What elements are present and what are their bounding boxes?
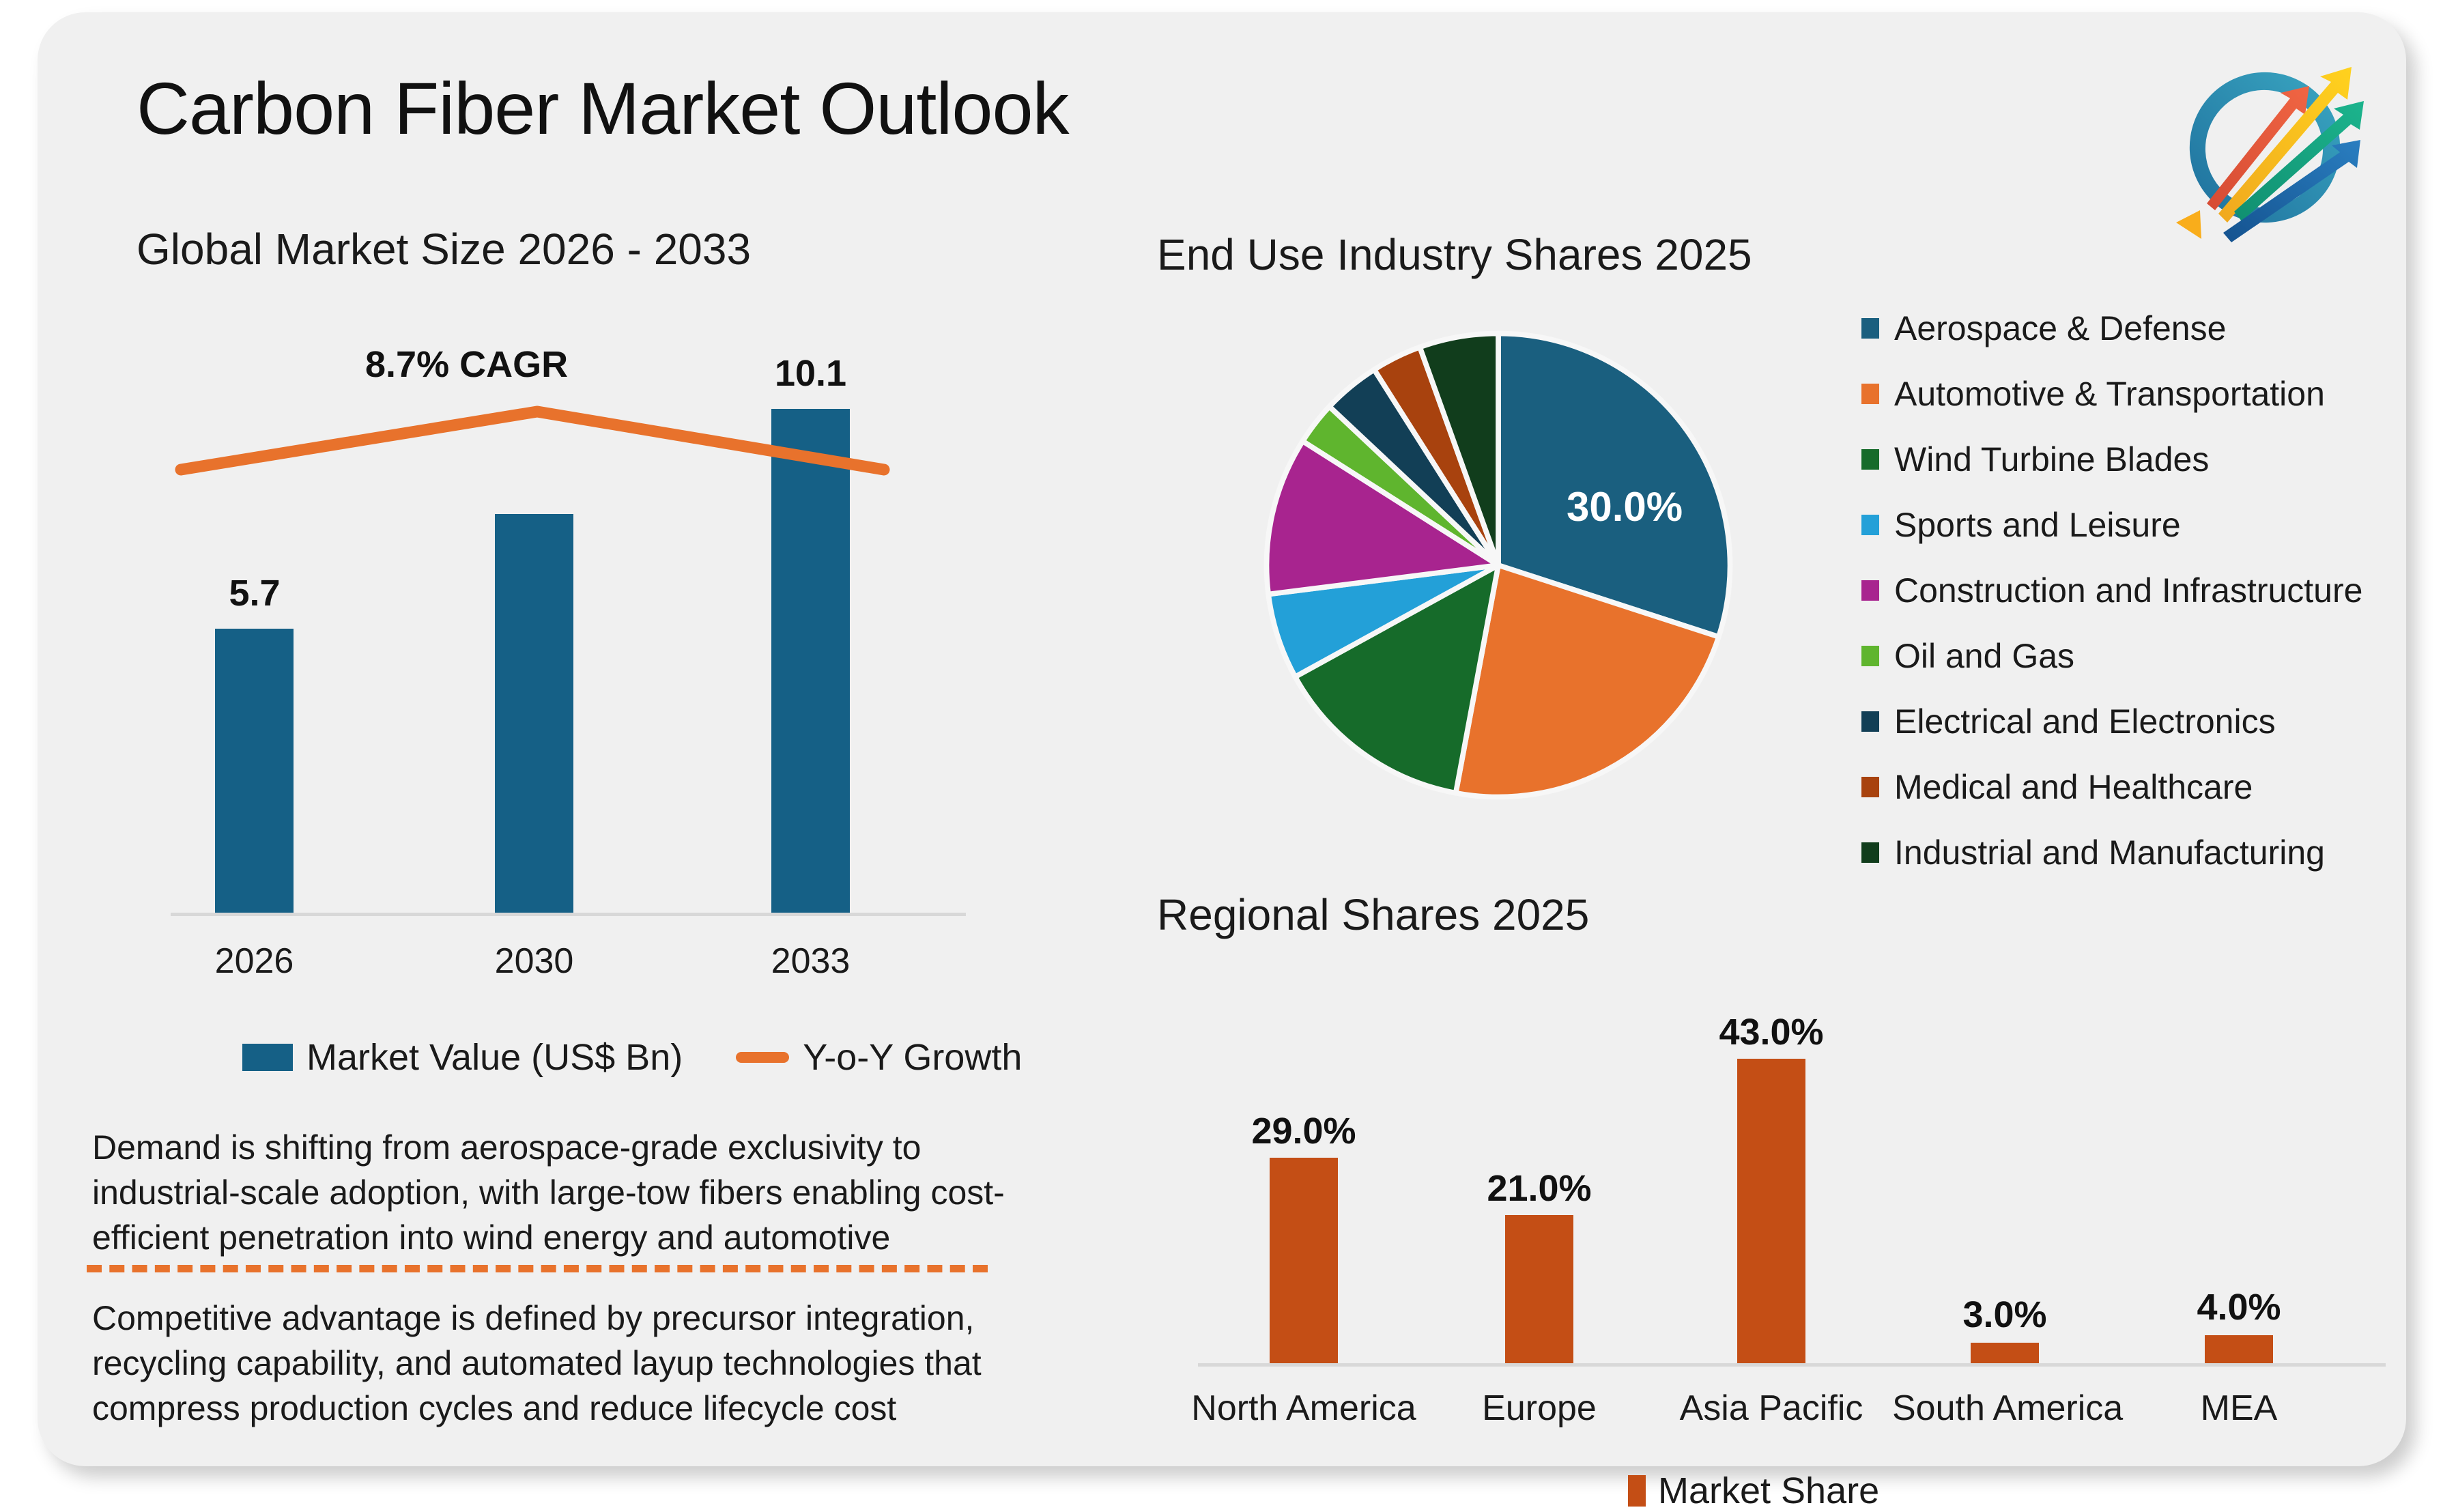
xtick-2033: 2033 — [737, 941, 884, 982]
market-value-swatch-icon — [242, 1044, 293, 1071]
rbar-europe — [1505, 1215, 1573, 1364]
legend-swatch-icon — [1861, 318, 1879, 339]
pie-legend-item-wind-turbine-blades[interactable]: Wind Turbine Blades — [1861, 427, 2362, 492]
market-x-axis — [171, 913, 966, 916]
pie-legend-item-construction-infrastructure[interactable]: Construction and Infrastructure — [1861, 558, 2362, 623]
rtick-south-america: South America — [1892, 1388, 2117, 1429]
rbar-south-america — [1971, 1343, 2039, 1364]
rbar-value-south-america: 3.0% — [1930, 1294, 2080, 1336]
global-market-size-chart: 5.7 10.1 8.7% CAGR 2026 2030 2033 — [140, 299, 993, 982]
cagr-annotation: 8.7% CAGR — [365, 343, 568, 386]
pie-legend-label: Oil and Gas — [1894, 636, 2074, 676]
xtick-2030: 2030 — [461, 941, 608, 982]
pie-legend-label: Electrical and Electronics — [1894, 702, 2276, 741]
rbar-mea — [2205, 1335, 2273, 1364]
rtick-asia-pacific: Asia Pacific — [1659, 1388, 1884, 1429]
legend-label-yoy-growth: Y-o-Y Growth — [803, 1036, 1022, 1079]
legend-swatch-icon — [1861, 515, 1879, 535]
growth-arrows-logo — [2147, 40, 2406, 272]
regional-chart-legend[interactable]: Market Share — [1628, 1470, 1879, 1512]
regional-plot-area: 29.0% 21.0% 43.0% 3.0% 4.0% — [1198, 954, 2427, 1364]
pie-legend: Aerospace & Defense Automotive & Transpo… — [1861, 296, 2362, 885]
rtick-mea: MEA — [2126, 1388, 2352, 1429]
rtick-north-america: North America — [1191, 1388, 1416, 1429]
rbar-value-europe: 21.0% — [1464, 1167, 1614, 1210]
rbar-asia-pacific — [1737, 1059, 1805, 1364]
page-title: Carbon Fiber Market Outlook — [137, 66, 1069, 151]
pie-heading: End Use Industry Shares 2025 — [1157, 229, 1752, 280]
pie-legend-item-electrical-electronics[interactable]: Electrical and Electronics — [1861, 689, 2362, 754]
bar-value-2026: 5.7 — [214, 572, 296, 614]
rtick-europe: Europe — [1427, 1388, 1652, 1429]
market-chart-legend: Market Value (US$ Bn) Y-o-Y Growth — [242, 1036, 1022, 1079]
pie-legend-item-aerospace-defense[interactable]: Aerospace & Defense — [1861, 296, 2362, 361]
regional-x-axis — [1198, 1363, 2386, 1367]
rbar-value-asia-pacific: 43.0% — [1696, 1011, 1846, 1053]
pie-legend-item-oil-gas[interactable]: Oil and Gas — [1861, 623, 2362, 689]
insight-text-1: Demand is shifting from aerospace-grade … — [92, 1125, 1061, 1260]
pie-legend-label: Industrial and Manufacturing — [1894, 833, 2325, 872]
pie-legend-item-medical-healthcare[interactable]: Medical and Healthcare — [1861, 754, 2362, 820]
rbar-value-north-america: 29.0% — [1229, 1110, 1379, 1152]
bar-value-2033: 10.1 — [754, 352, 867, 395]
regional-shares-chart: 29.0% 21.0% 43.0% 3.0% 4.0% North Americ… — [1198, 954, 2427, 1500]
pie-legend-label: Wind Turbine Blades — [1894, 440, 2209, 479]
legend-swatch-icon — [1861, 646, 1879, 666]
bar-2026 — [215, 629, 294, 913]
insight-divider — [87, 1265, 988, 1272]
pie-legend-label: Sports and Leisure — [1894, 505, 2181, 545]
regional-legend-label: Market Share — [1658, 1470, 1879, 1512]
legend-swatch-icon — [1861, 580, 1879, 601]
rbar-north-america — [1270, 1158, 1338, 1364]
pie-legend-item-sports-leisure[interactable]: Sports and Leisure — [1861, 492, 2362, 558]
pie-legend-label: Automotive & Transportation — [1894, 374, 2325, 414]
legend-swatch-icon — [1861, 777, 1879, 797]
legend-swatch-icon — [1861, 384, 1879, 404]
rbar-value-mea: 4.0% — [2164, 1286, 2314, 1328]
infographic-card: Carbon Fiber Market Outlook — [38, 12, 2406, 1466]
legend-item-market-value[interactable]: Market Value (US$ Bn) — [242, 1036, 683, 1079]
bar-2030 — [495, 514, 573, 913]
pie-legend-label: Construction and Infrastructure — [1894, 571, 2362, 610]
legend-swatch-icon — [1861, 711, 1879, 732]
market-share-swatch-icon — [1628, 1475, 1646, 1507]
legend-swatch-icon — [1861, 842, 1879, 863]
xtick-2026: 2026 — [181, 941, 328, 982]
legend-swatch-icon — [1861, 449, 1879, 470]
legend-item-yoy-growth[interactable]: Y-o-Y Growth — [736, 1036, 1022, 1079]
pie-legend-label: Aerospace & Defense — [1894, 309, 2226, 348]
market-plot-area: 5.7 10.1 8.7% CAGR — [140, 299, 993, 913]
insight-text-2: Competitive advantage is defined by prec… — [92, 1296, 1061, 1431]
pie-legend-item-industrial-manufacturing[interactable]: Industrial and Manufacturing — [1861, 820, 2362, 885]
legend-label-market-value: Market Value (US$ Bn) — [306, 1036, 683, 1079]
market-size-heading: Global Market Size 2026 - 2033 — [137, 224, 751, 274]
regional-shares-heading: Regional Shares 2025 — [1157, 889, 1589, 940]
yoy-growth-swatch-icon — [736, 1052, 789, 1063]
end-use-industry-pie-chart — [1259, 326, 1737, 804]
pie-slice-label-aerospace: 30.0% — [1567, 483, 1683, 530]
bar-2033 — [771, 409, 850, 913]
pie-legend-label: Medical and Healthcare — [1894, 767, 2253, 807]
pie-legend-item-automotive-transportation[interactable]: Automotive & Transportation — [1861, 361, 2362, 427]
